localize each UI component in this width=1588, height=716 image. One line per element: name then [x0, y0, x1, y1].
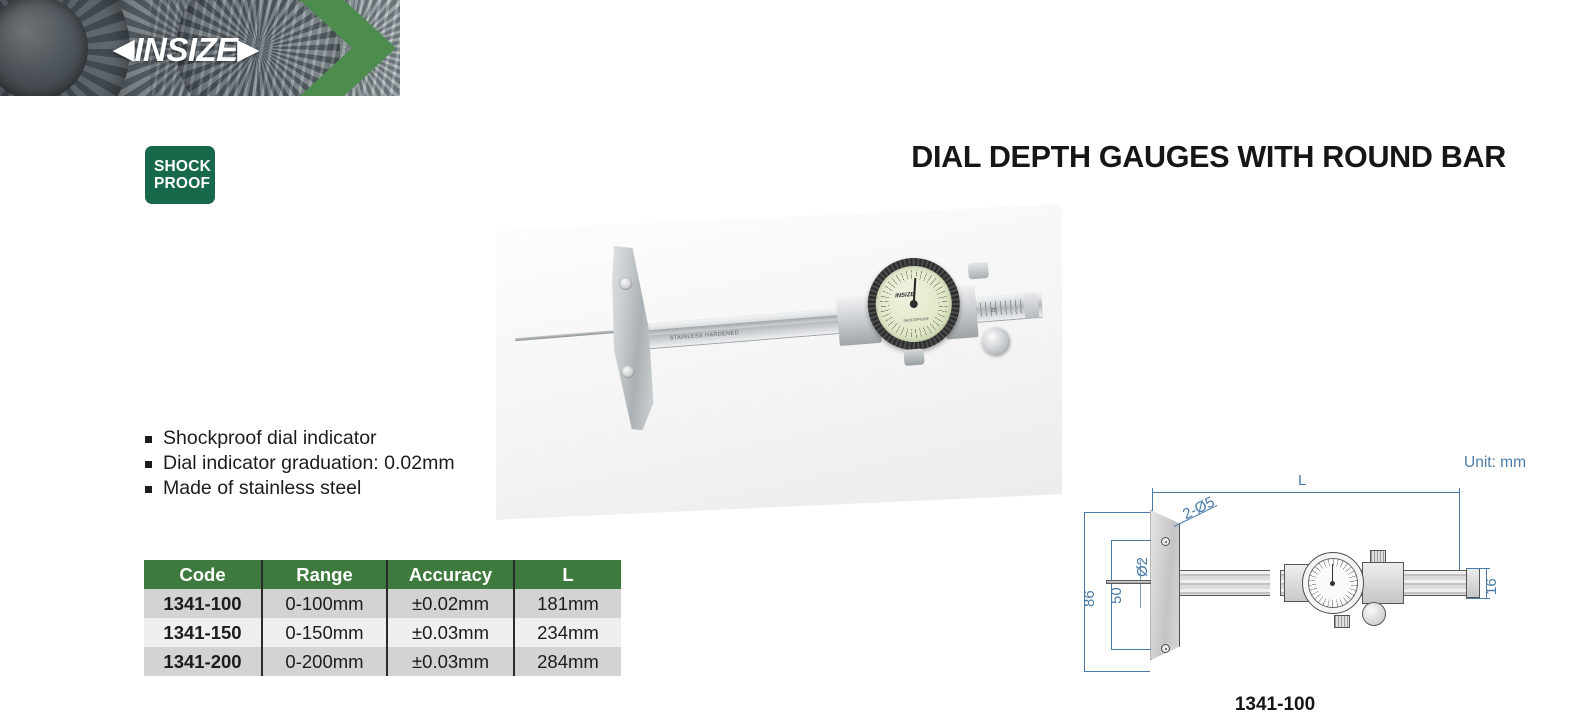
- cell-l: 234mm: [514, 618, 621, 647]
- dim-label-height-total: 86: [1081, 590, 1098, 607]
- column-header-l: L: [514, 560, 621, 589]
- top-clamp-knob: [968, 262, 989, 280]
- table-row: 1341-100 0-100mm ±0.02mm 181mm: [144, 589, 621, 618]
- t-shaped-base: [604, 244, 657, 432]
- unit-label: Unit: mm: [1464, 454, 1526, 472]
- drawing-beam-left: [1179, 570, 1279, 596]
- cell-l: 284mm: [514, 647, 621, 676]
- cell-code: 1341-150: [144, 618, 262, 647]
- scale-number: 20: [990, 307, 997, 313]
- beam-end-cap: [1023, 292, 1039, 319]
- cell-code: 1341-200: [144, 647, 262, 676]
- dim-ext-line: [1152, 492, 1153, 514]
- bullet-square-icon: [145, 486, 152, 493]
- header-banner: ◀ INSIZE ▶: [0, 0, 1588, 96]
- dim-label-height-inner: 50: [1108, 587, 1125, 604]
- badge-line-1: SHOCK: [154, 158, 211, 175]
- page-title: DIAL DEPTH GAUGES WITH ROUND BAR: [911, 140, 1506, 175]
- drawing-probe-rod: [1106, 580, 1154, 584]
- cell-code: 1341-100: [144, 589, 262, 618]
- drawing-slider-body-2: [1362, 562, 1404, 604]
- technical-drawing: Unit: mm L 86 50 Ø2 2-Ø5: [1062, 452, 1532, 692]
- drawing-mounting-hole: [1161, 644, 1170, 653]
- dim-ext-line: [1466, 598, 1490, 599]
- dim-label-probe: Ø2: [1134, 557, 1151, 577]
- cell-range: 0-150mm: [262, 618, 387, 647]
- drawing-bottom-knob: [1334, 615, 1350, 628]
- feature-list: Shockproof dial indicator Dial indicator…: [145, 427, 455, 502]
- dim-label-thickness: 16: [1483, 578, 1500, 595]
- logo-text: INSIZE: [134, 33, 237, 66]
- cell-range: 0-100mm: [262, 589, 387, 618]
- dim-label-length: L: [1298, 472, 1306, 489]
- drawing-thumb-roller: [1362, 602, 1386, 626]
- column-header-code: Code: [144, 560, 262, 589]
- arrow-left-icon: ◀: [114, 36, 135, 63]
- drawing-mounting-hole: [1161, 537, 1170, 546]
- cell-accuracy: ±0.03mm: [387, 647, 514, 676]
- dim-line-length: [1152, 492, 1460, 493]
- feature-text: Dial indicator graduation: 0.02mm: [163, 452, 455, 475]
- cell-accuracy: ±0.03mm: [387, 618, 514, 647]
- feature-item: Shockproof dial indicator: [145, 427, 455, 450]
- product-photo: STAINLESS HARDENED 50 40 30 20 INSIZE SH…: [496, 217, 1062, 507]
- drawing-end-cap: [1466, 568, 1480, 598]
- shock-proof-badge: SHOCK PROOF: [145, 146, 215, 204]
- drawing-dial-hub: [1330, 581, 1335, 586]
- feature-item: Made of stainless steel: [145, 477, 455, 500]
- column-header-accuracy: Accuracy: [387, 560, 514, 589]
- specification-table: Code Range Accuracy L 1341-100 0-100mm ±…: [144, 560, 621, 676]
- feature-text: Shockproof dial indicator: [163, 427, 377, 450]
- feature-text: Made of stainless steel: [163, 477, 361, 500]
- table-row: 1341-200 0-200mm ±0.03mm 284mm: [144, 647, 621, 676]
- dim-ext-line: [1084, 512, 1150, 513]
- badge-line-2: PROOF: [154, 175, 210, 192]
- product-catalog-page: ◀ INSIZE ▶ SHOCK PROOF DIAL DEPTH GAUGES…: [0, 0, 1588, 716]
- thumb-roller: [981, 326, 1011, 356]
- table-header-row: Code Range Accuracy L: [144, 560, 621, 589]
- cell-accuracy: ±0.02mm: [387, 589, 514, 618]
- product-caption: 1341-100: [992, 694, 1558, 716]
- dim-label-holes: 2-Ø5: [1180, 493, 1217, 523]
- bullet-square-icon: [145, 436, 152, 443]
- table-row: 1341-150 0-150mm ±0.03mm 234mm: [144, 618, 621, 647]
- cell-l: 181mm: [514, 589, 621, 618]
- drawing-base-plate: [1150, 510, 1180, 660]
- bottom-clamp-knob: [903, 348, 924, 366]
- measuring-beam: [623, 292, 1044, 352]
- bullet-square-icon: [145, 461, 152, 468]
- feature-item: Dial indicator graduation: 0.02mm: [145, 452, 455, 475]
- arrow-right-icon: ▶: [238, 36, 259, 63]
- drawing-top-knob: [1370, 550, 1386, 563]
- dim-ext-line: [1084, 671, 1150, 672]
- dial-depth-gauge-illustration: STAINLESS HARDENED 50 40 30 20 INSIZE SH…: [485, 195, 1072, 529]
- dim-ext-line: [1466, 568, 1490, 569]
- column-header-range: Range: [262, 560, 387, 589]
- insize-logo: ◀ INSIZE ▶: [100, 30, 272, 68]
- cell-range: 0-200mm: [262, 647, 387, 676]
